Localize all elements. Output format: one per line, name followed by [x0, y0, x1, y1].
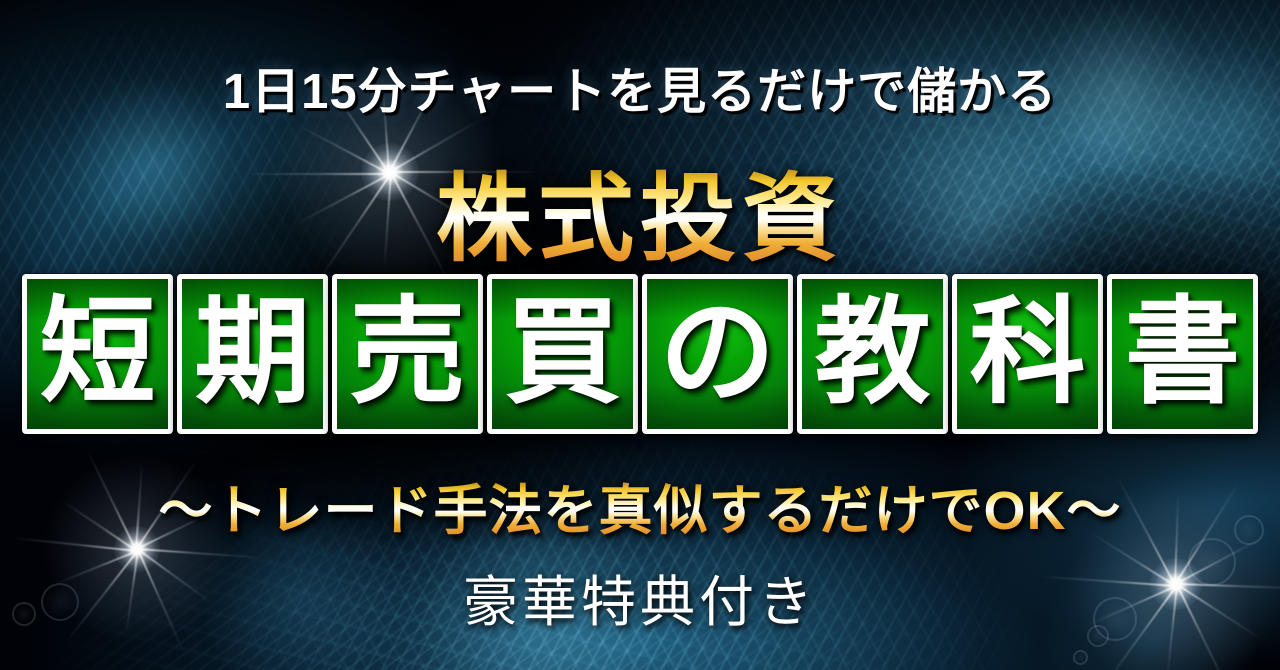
- title-char-box: 書: [1107, 274, 1258, 434]
- subline-gold-text: 〜トレード手法を真似するだけでOK〜: [159, 481, 1122, 541]
- title-char-glyph: 教: [815, 294, 931, 410]
- title-char-box: 期: [177, 274, 328, 434]
- boxed-title-row: 短 期 売 買 の 教 科 書: [20, 274, 1260, 434]
- title-char-glyph: 短: [40, 294, 156, 410]
- promo-banner: 1日15分チャートを見るだけで儲かる 株式投資 株式投資 短 期 売 買 の 教…: [0, 0, 1280, 670]
- title-char-glyph: 買: [505, 294, 621, 410]
- title-char-box: 短: [22, 274, 173, 434]
- title-char-box: 買: [487, 274, 638, 434]
- title-char-glyph: 科: [970, 294, 1086, 410]
- title-char-box: 科: [952, 274, 1103, 434]
- title-char-box: 教: [797, 274, 948, 434]
- title-char-glyph: 売: [350, 294, 466, 410]
- flare-ring-tiny-icon: [1073, 650, 1088, 665]
- headline-gold-text: 株式投資: [436, 166, 844, 273]
- title-char-glyph: 書: [1125, 294, 1241, 410]
- title-char-glyph: 期: [195, 294, 311, 410]
- title-char-glyph: の: [660, 294, 776, 410]
- headline-gold-container: 株式投資 株式投資: [0, 141, 1280, 280]
- title-char-box: 売: [332, 274, 483, 434]
- headline-top-text: 1日15分チャートを見るだけで儲かる: [0, 52, 1280, 123]
- subline-gold-container: 〜トレード手法を真似するだけでOK〜 〜トレード手法を真似するだけでOK〜: [0, 466, 1280, 545]
- title-char-box: の: [642, 274, 793, 434]
- footline-text: 豪華特典付き: [0, 557, 1280, 637]
